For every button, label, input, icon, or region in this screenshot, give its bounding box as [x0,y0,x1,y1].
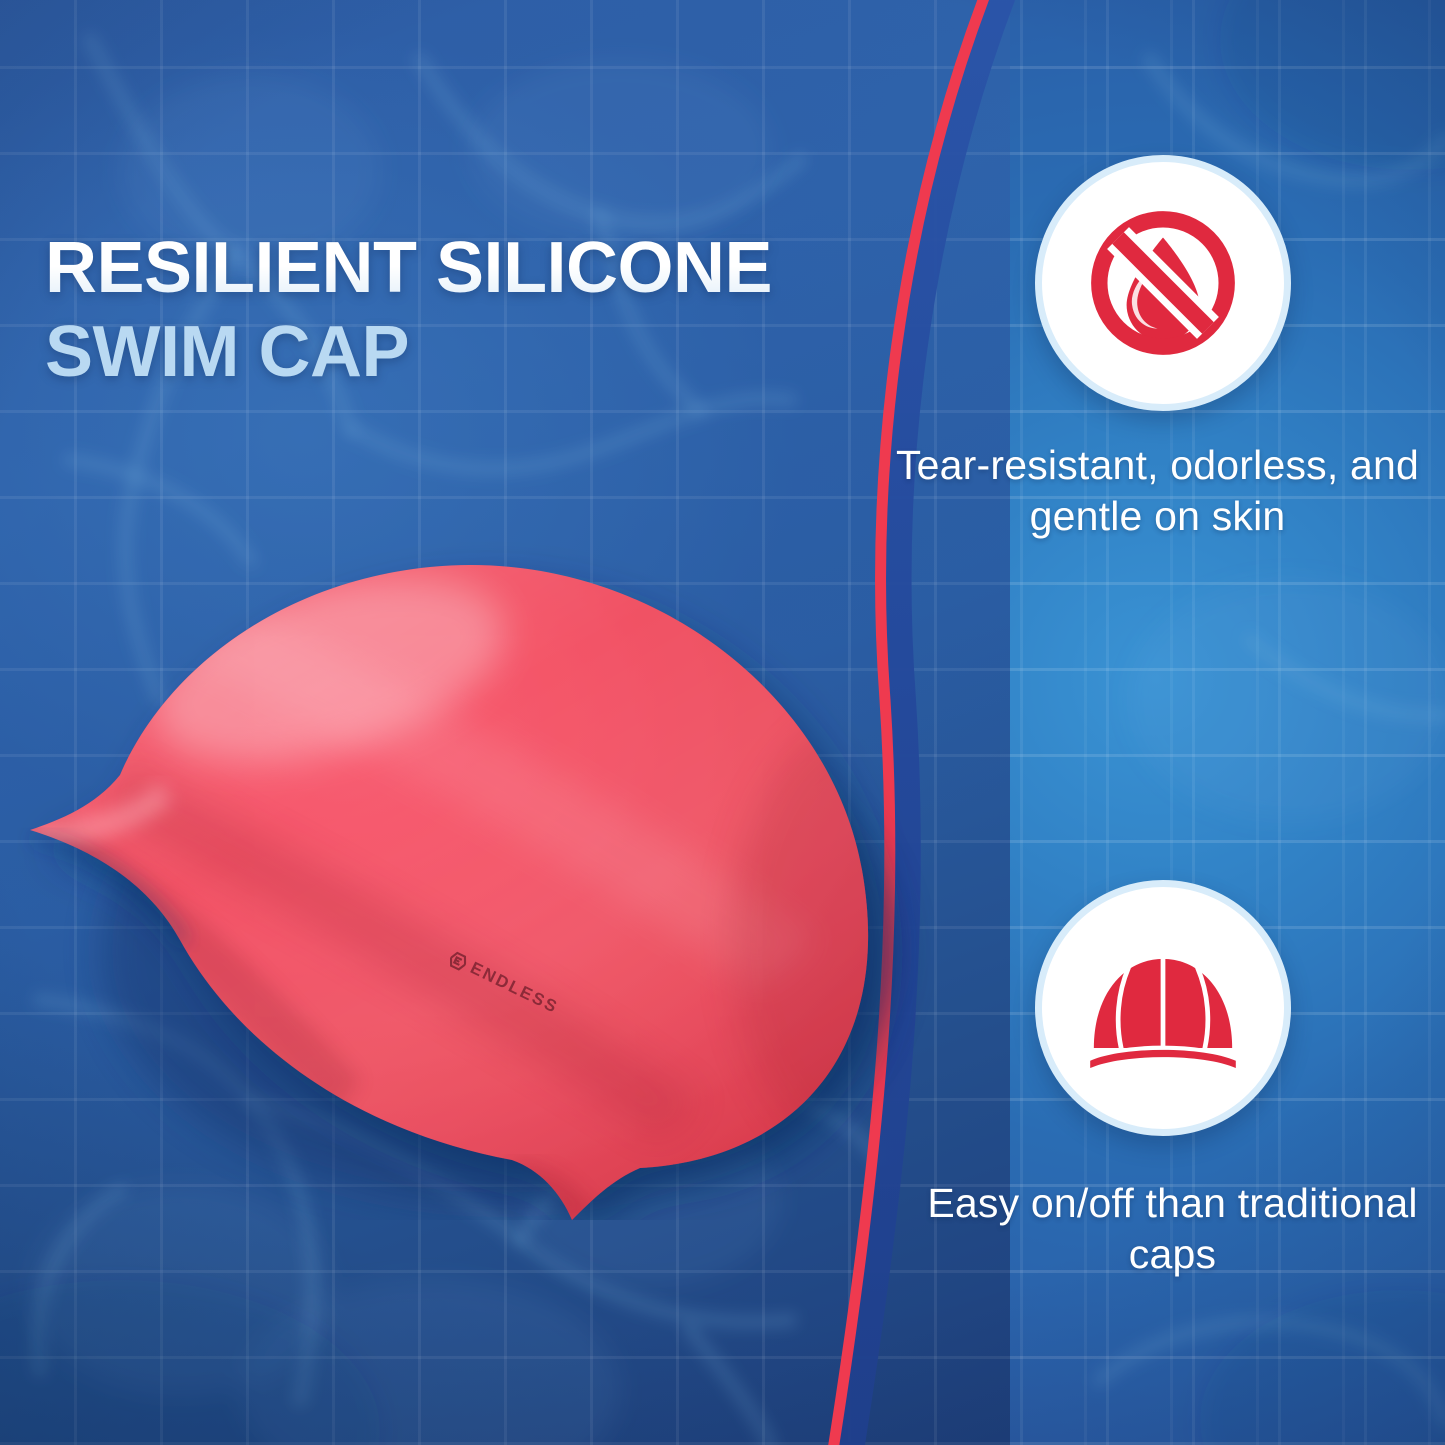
feature-waterproof [1035,155,1291,411]
feature-easy-wear-text: Easy on/off than traditional caps [900,1178,1445,1281]
swim-cap-icon [1072,917,1254,1099]
feature-icon-badge [1035,880,1291,1136]
feature-easy-wear [1035,880,1291,1136]
feature-icon-badge [1035,155,1291,411]
product-image-swim-cap [0,520,960,1220]
feature-waterproof-text: Tear-resistant, odorless, and gentle on … [870,440,1445,543]
page-title-line-1: Resilient Silicone [45,226,845,310]
page-title: Resilient Silicone Swim Cap [45,226,845,394]
no-water-drop-icon [1072,192,1254,374]
product-infographic: Resilient Silicone Swim Cap [0,0,1445,1445]
page-title-line-2: Swim Cap [45,310,845,394]
